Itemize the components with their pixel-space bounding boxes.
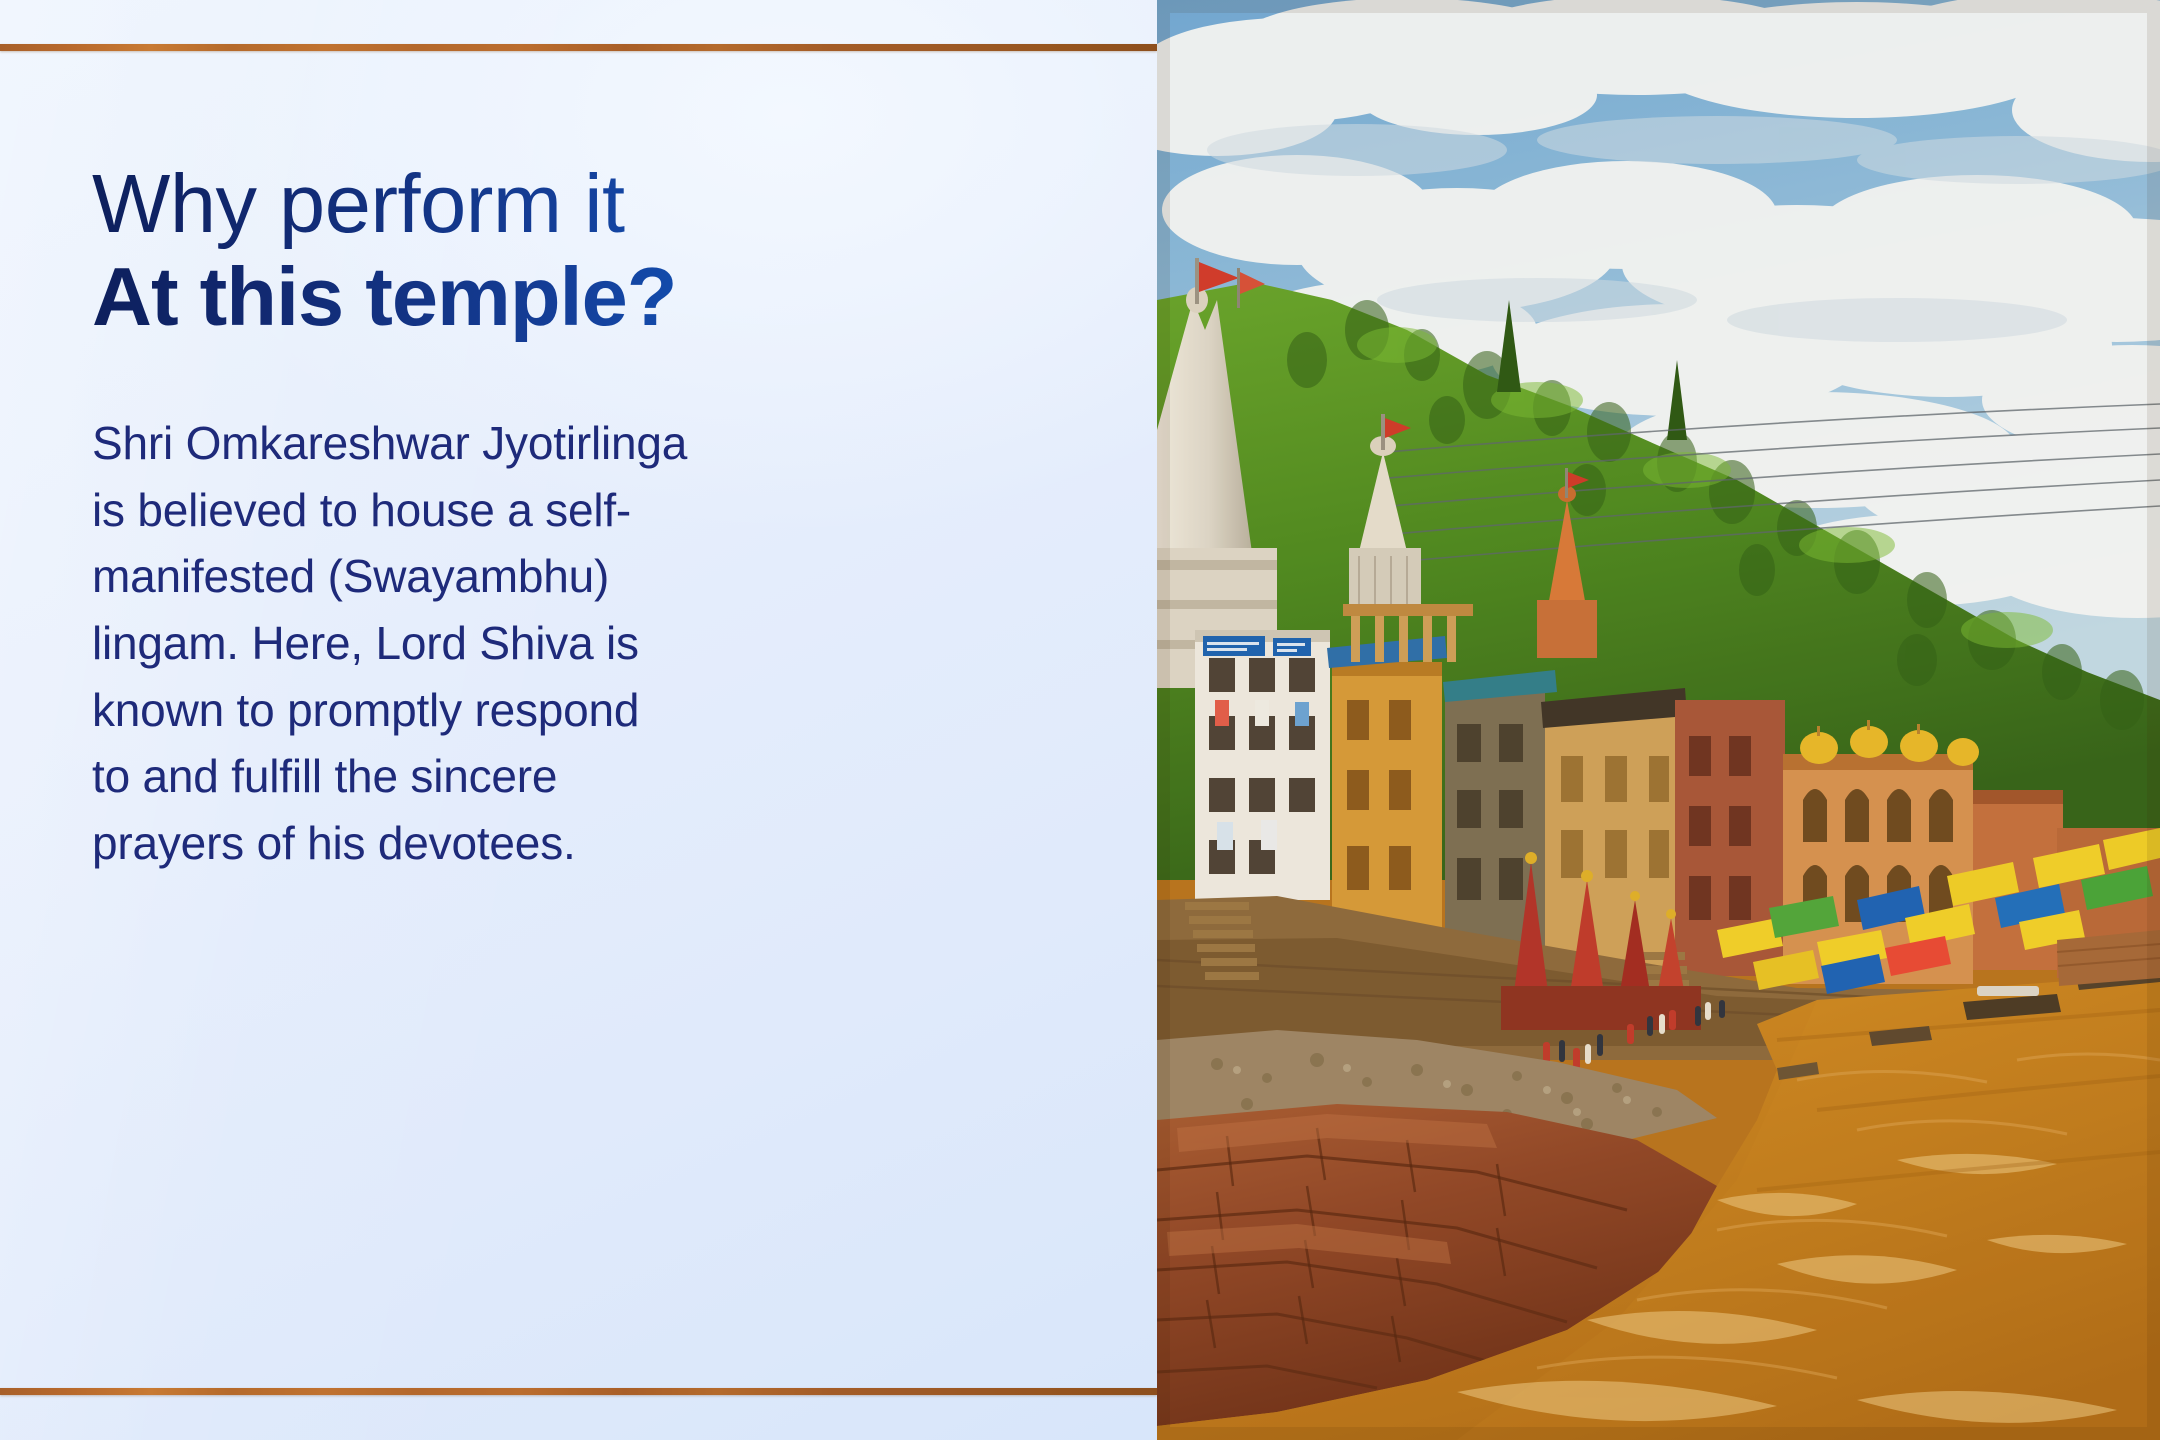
body-line: Shri Omkareshwar Jyotirlinga: [92, 410, 792, 477]
temple-photo-illustration: [1157, 0, 2160, 1440]
body-line: lingam. Here, Lord Shiva is: [92, 610, 792, 677]
body-line: to and fulfill the sincere: [92, 743, 792, 810]
body-line: prayers of his devotees.: [92, 810, 792, 877]
page-title: Why perform it At this temple?: [92, 158, 1157, 344]
photo-warmth: [1157, 0, 2160, 1440]
body-line: known to promptly respond: [92, 677, 792, 744]
text-panel: Why perform it At this temple? Shri Omka…: [0, 0, 1157, 1440]
top-divider-rule: [0, 44, 1157, 51]
body-line: is believed to house a self-: [92, 477, 792, 544]
slide-root: Why perform it At this temple? Shri Omka…: [0, 0, 2160, 1440]
text-content: Why perform it At this temple? Shri Omka…: [0, 158, 1157, 877]
bottom-divider-rule: [0, 1388, 1157, 1395]
temple-photo: [1157, 0, 2160, 1440]
heading-line-1: Why perform it: [92, 158, 1157, 251]
body-paragraph: Shri Omkareshwar Jyotirlinga is believed…: [92, 410, 792, 877]
body-line: manifested (Swayambhu): [92, 543, 792, 610]
heading-line-2: At this temple?: [92, 251, 1157, 344]
